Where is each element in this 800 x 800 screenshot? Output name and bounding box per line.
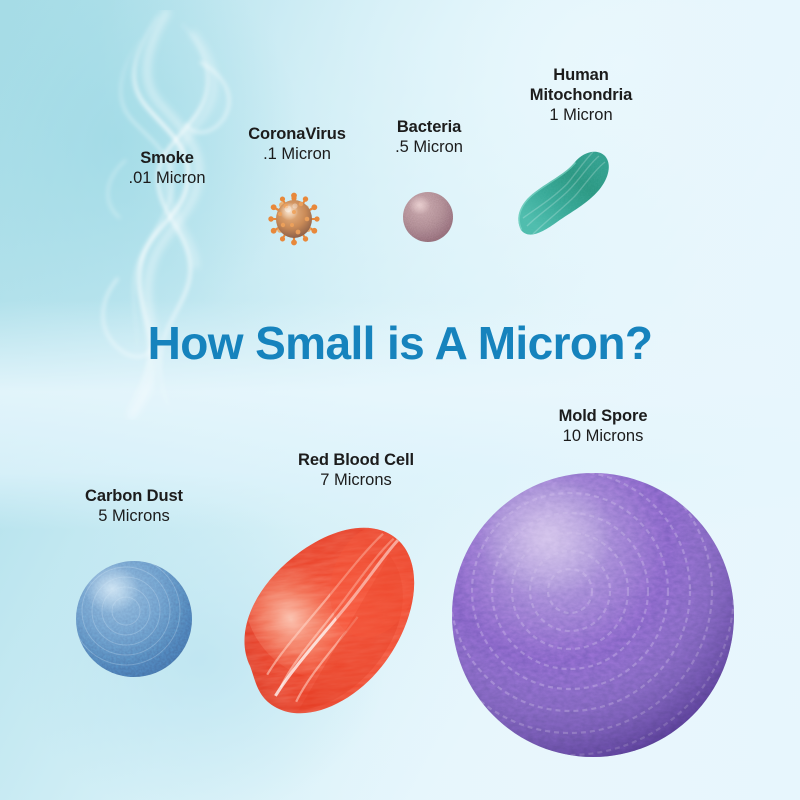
label-red-blood-cell: Red Blood Cell 7 Microns <box>298 450 414 490</box>
mold-spore-sphere-icon <box>452 473 734 757</box>
label-coronavirus-size: .1 Micron <box>248 144 346 164</box>
mold-spore-shadow <box>452 473 734 757</box>
carbon-dust-sphere-icon <box>76 561 192 677</box>
label-mitochondria-name-line2: Mitochondria <box>530 85 632 105</box>
label-coronavirus-name: CoronaVirus <box>248 124 346 144</box>
bacteria-sphere-icon <box>403 192 453 242</box>
red-blood-cell-icon <box>228 506 428 738</box>
label-carbon-dust-name: Carbon Dust <box>85 486 183 506</box>
label-carbon-dust-size: 5 Microns <box>85 506 183 526</box>
infographic-canvas: Smoke .01 Micron CoronaVirus .1 Micron B… <box>0 0 800 800</box>
label-mold-spore-size: 10 Microns <box>559 426 648 446</box>
carbon-dust-rim <box>76 561 192 677</box>
label-mitochondria-name-line1: Human <box>530 65 632 85</box>
page-title: How Small is A Micron? <box>0 316 800 370</box>
label-mold-spore-name: Mold Spore <box>559 406 648 426</box>
label-smoke: Smoke .01 Micron <box>128 148 205 188</box>
label-bacteria-size: .5 Micron <box>395 137 463 157</box>
label-smoke-size: .01 Micron <box>128 168 205 188</box>
label-coronavirus: CoronaVirus .1 Micron <box>248 124 346 164</box>
label-carbon-dust: Carbon Dust 5 Microns <box>85 486 183 526</box>
label-mitochondria-size: 1 Micron <box>530 105 632 125</box>
label-bacteria: Bacteria .5 Micron <box>395 117 463 157</box>
label-bacteria-name: Bacteria <box>395 117 463 137</box>
label-red-blood-cell-name: Red Blood Cell <box>298 450 414 470</box>
label-mitochondria: Human Mitochondria 1 Micron <box>530 65 632 125</box>
coronavirus-particle-icon <box>268 192 320 246</box>
label-red-blood-cell-size: 7 Microns <box>298 470 414 490</box>
label-mold-spore: Mold Spore 10 Microns <box>559 406 648 446</box>
label-smoke-name: Smoke <box>128 148 205 168</box>
mitochondria-icon <box>513 148 613 244</box>
bacteria-texture <box>403 192 453 242</box>
